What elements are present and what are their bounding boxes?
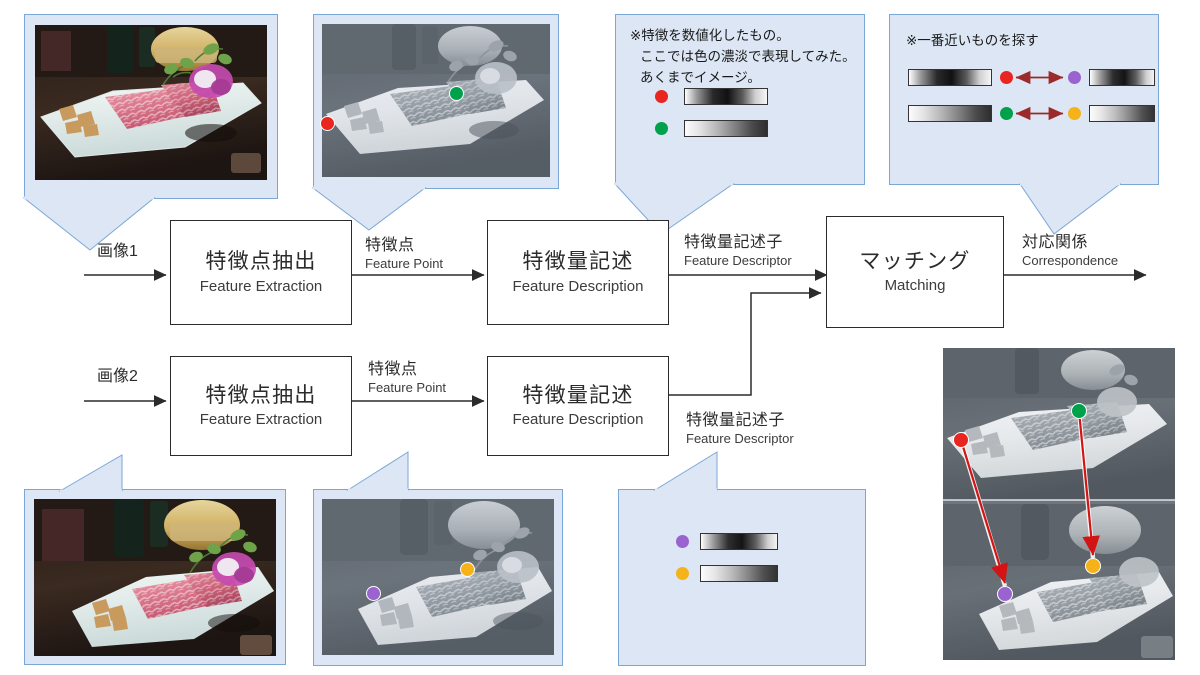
image1-gray-photo xyxy=(322,24,550,177)
matching-note-arrow-2 xyxy=(1013,106,1073,122)
row2-edge-feature-descriptor-en: Feature Descriptor xyxy=(686,431,794,447)
box-matching-en: Matching xyxy=(885,277,946,295)
descriptor-note-line3: あくまでイメージ。 xyxy=(640,68,761,89)
result-point-green xyxy=(1071,403,1087,419)
result-point-red xyxy=(953,432,969,448)
box-feature-description-2[interactable]: 特徴量記述 Feature Description xyxy=(487,356,669,456)
result-point-purple xyxy=(997,586,1013,602)
row1-edge-correspondence: 対応関係 Correspondence xyxy=(1022,233,1118,269)
matching-result-arrows xyxy=(943,348,1175,660)
image2-descriptor-dot-purple xyxy=(676,535,689,548)
row2-arrow-1 xyxy=(352,394,494,408)
feature-point-red-image1 xyxy=(320,116,335,131)
row1-edge-feature-point-jp: 特徴点 xyxy=(365,236,443,255)
row1-edge-feature-point: 特徴点 Feature Point xyxy=(365,236,443,272)
matching-note-dot-purple xyxy=(1068,71,1081,84)
row1-edge-correspondence-en: Correspondence xyxy=(1022,253,1118,269)
row2-edge-feature-point-jp: 特徴点 xyxy=(368,360,446,379)
descriptor-note-line2: ここでは色の濃淡で表現してみた。 xyxy=(640,47,856,68)
row1-edge-feature-descriptor-en: Feature Descriptor xyxy=(684,253,792,269)
row1-arrow-1 xyxy=(352,268,494,282)
box-feature-extraction-2[interactable]: 特徴点抽出 Feature Extraction xyxy=(170,356,352,456)
descriptor-bar-green xyxy=(684,120,768,137)
image2-color-photo xyxy=(34,499,276,656)
row2-edge-feature-descriptor: 特徴量記述子 Feature Descriptor xyxy=(686,411,794,447)
row1-edge-feature-descriptor-jp: 特徴量記述子 xyxy=(684,233,792,252)
box-feature-description-1[interactable]: 特徴量記述 Feature Description xyxy=(487,220,669,325)
row1-edge-feature-descriptor: 特徴量記述子 Feature Descriptor xyxy=(684,233,792,269)
matching-note-dot-orange xyxy=(1068,107,1081,120)
diagram-title: 特徴点抽出・特徴量記述・マッチングのパイプライン図 xyxy=(0,0,1,1)
box-feature-description-2-jp: 特徴量記述 xyxy=(522,383,633,409)
matching-note-dot-red xyxy=(1000,71,1013,84)
box-feature-extraction-1-jp: 特徴点抽出 xyxy=(205,249,316,275)
image2-gray-art xyxy=(322,499,554,655)
box-matching-jp: マッチング xyxy=(859,249,970,275)
callout-image2-descriptors-tail xyxy=(655,452,855,494)
matching-bar-left-red xyxy=(908,69,992,86)
descriptor-bar-purple xyxy=(700,533,778,550)
callout-image2-featurepoints-tail xyxy=(348,452,548,494)
image2-photo-art xyxy=(34,499,276,656)
box-feature-extraction-2-jp: 特徴点抽出 xyxy=(205,383,316,409)
diagram-canvas: ※特徴を数値化したもの。 ここでは色の濃淡で表現してみた。 あくまでイメージ。 … xyxy=(0,0,1200,675)
callout-matching-note-tail xyxy=(1020,182,1180,238)
matching-note-dot-green xyxy=(1000,107,1013,120)
row1-input-arrow xyxy=(84,268,176,282)
descriptor-bar-red xyxy=(684,88,768,105)
row2-to-matching-connector xyxy=(669,290,839,410)
matching-note-arrow-1 xyxy=(1013,70,1073,86)
descriptor-note-line1: ※特徴を数値化したもの。 xyxy=(630,26,790,47)
box-feature-description-2-en: Feature Description xyxy=(513,411,644,429)
row1-edge-correspondence-jp: 対応関係 xyxy=(1022,233,1118,252)
matching-bar-right-purple xyxy=(1089,69,1155,86)
image1-photo-art xyxy=(35,25,267,180)
row1-input-label: 画像1 xyxy=(97,237,138,261)
descriptor-bar-orange xyxy=(700,565,778,582)
image2-gray-photo xyxy=(322,499,554,655)
box-feature-description-1-en: Feature Description xyxy=(513,278,644,296)
row1-output-arrow xyxy=(1004,268,1156,282)
box-feature-description-1-jp: 特徴量記述 xyxy=(522,249,633,275)
box-feature-extraction-2-en: Feature Extraction xyxy=(200,411,323,429)
matching-bar-left-green xyxy=(908,105,992,122)
row2-input-arrow xyxy=(84,394,176,408)
image1-color-photo xyxy=(35,25,267,180)
box-feature-extraction-1-en: Feature Extraction xyxy=(200,278,323,296)
matching-note-line1: ※一番近いものを探す xyxy=(906,31,1039,52)
row1-arrow-2 xyxy=(669,268,837,282)
matching-bar-right-orange xyxy=(1089,105,1155,122)
row2-edge-feature-descriptor-jp: 特徴量記述子 xyxy=(686,411,794,430)
feature-point-purple-image2 xyxy=(366,586,381,601)
result-point-orange xyxy=(1085,558,1101,574)
descriptor-note-dot-red xyxy=(655,90,668,103)
image1-gray-art xyxy=(322,24,550,177)
box-feature-extraction-1[interactable]: 特徴点抽出 Feature Extraction xyxy=(170,220,352,325)
image2-descriptor-dot-orange xyxy=(676,567,689,580)
descriptor-note-dot-green xyxy=(655,122,668,135)
row2-input-label: 画像2 xyxy=(97,362,138,386)
box-matching[interactable]: マッチング Matching xyxy=(826,216,1004,328)
feature-point-orange-image2 xyxy=(460,562,475,577)
feature-point-green-image1 xyxy=(449,86,464,101)
row2-edge-feature-point: 特徴点 Feature Point xyxy=(368,360,446,396)
